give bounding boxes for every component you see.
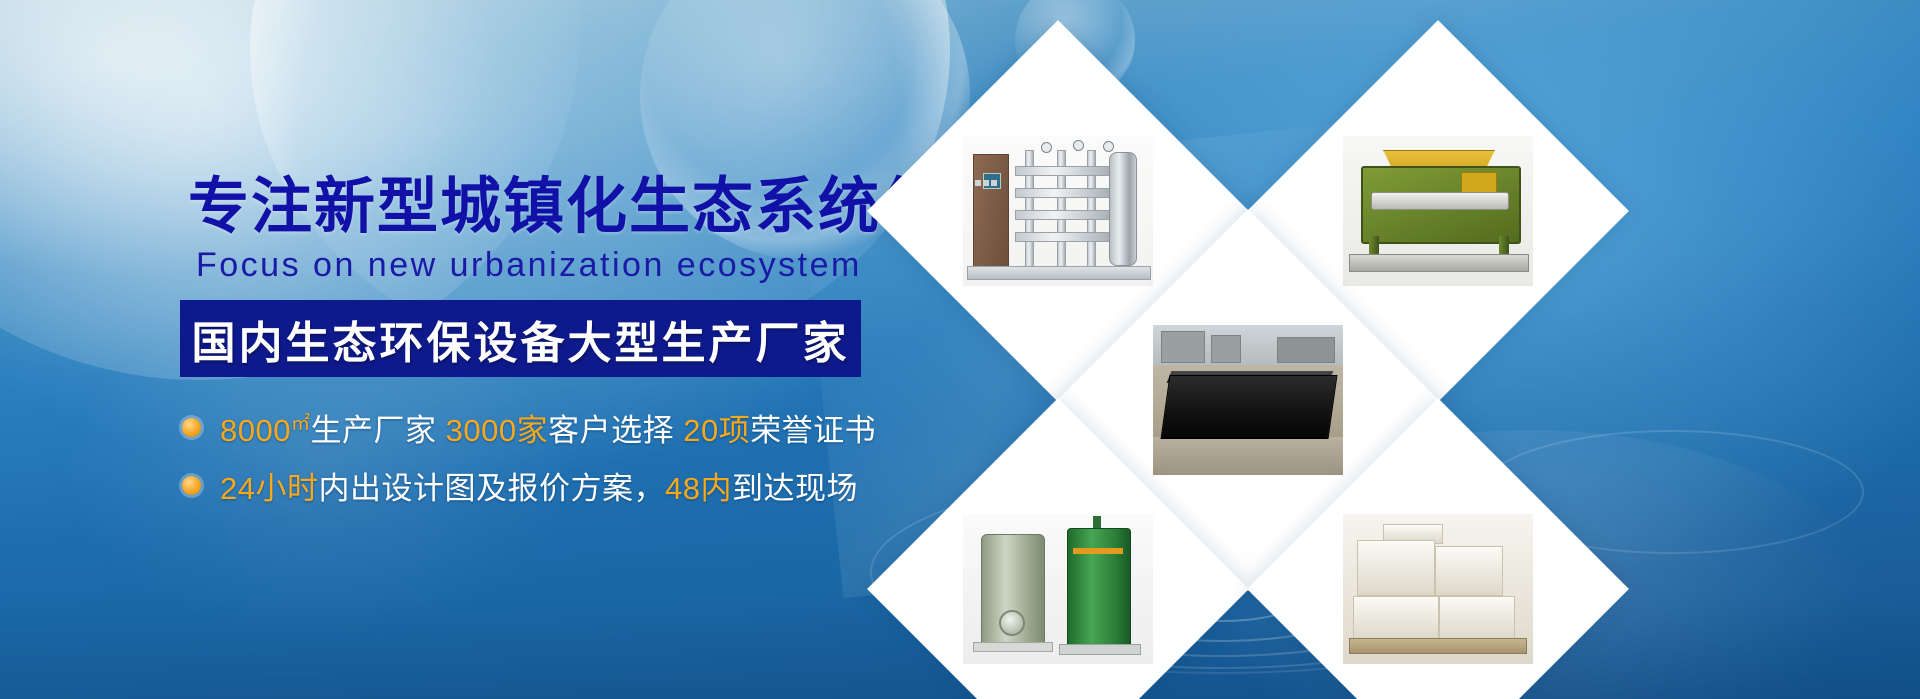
banner-subheadline: Focus on new urbanization ecosystem: [196, 248, 862, 282]
bullet-1-part-2: 生产厂家: [310, 413, 445, 448]
water-treatment-skid-photo: [963, 136, 1153, 286]
bullet-1-part-0: 8000: [220, 413, 291, 448]
bullet-2-part-3: 48: [665, 471, 700, 506]
vertical-tanks-photo: [963, 514, 1153, 664]
aac-blocks-photo: [1343, 514, 1533, 664]
black-tank-module-photo: [1153, 325, 1343, 475]
bullet-2-part-4: 内: [700, 471, 732, 506]
industrial-machine-photo: [1343, 136, 1533, 286]
bullet-2-part-2: 内出设计图及报价方案，: [318, 471, 665, 506]
hero-banner: 专注新型城镇化生态系统领域 Focus on new urbanization …: [0, 0, 1920, 699]
bullet-1-part-7: 项: [719, 413, 751, 448]
list-item: 24小时内出设计图及报价方案，48内到达现场: [182, 462, 912, 508]
bullet-text-1: 8000㎡生产厂家 3000家客户选择 20项荣誉证书: [220, 405, 876, 450]
bullet-2-part-5: 到达现场: [732, 471, 858, 506]
list-item: 8000㎡生产厂家 3000家客户选择 20项荣誉证书: [182, 404, 912, 450]
bullet-1-part-1: ㎡: [291, 413, 311, 434]
banner-highlight-bar: 国内生态环保设备大型生产厂家: [180, 300, 861, 377]
bullet-1-part-3: 3000: [446, 413, 517, 448]
bullet-dot-icon: [182, 476, 201, 495]
bullet-text-2: 24小时内出设计图及报价方案，48内到达现场: [220, 463, 858, 508]
bullet-dot-icon: [182, 418, 201, 437]
bullet-1-part-6: 20: [683, 413, 718, 448]
product-diamond-grid: [905, 40, 1920, 660]
bullet-2-part-1: 小时: [255, 471, 318, 506]
banner-bullet-list: 8000㎡生产厂家 3000家客户选择 20项荣誉证书 24小时内出设计图及报价…: [182, 404, 912, 520]
bullet-1-part-8: 荣誉证书: [750, 413, 876, 448]
banner-highlight-bar-text: 国内生态环保设备大型生产厂家: [192, 307, 850, 371]
bullet-1-part-4: 家: [517, 413, 549, 448]
banner-text-block: 专注新型城镇化生态系统领域 Focus on new urbanization …: [0, 0, 920, 699]
bullet-1-part-5: 客户选择: [548, 413, 683, 448]
bullet-2-part-0: 24: [220, 471, 255, 506]
